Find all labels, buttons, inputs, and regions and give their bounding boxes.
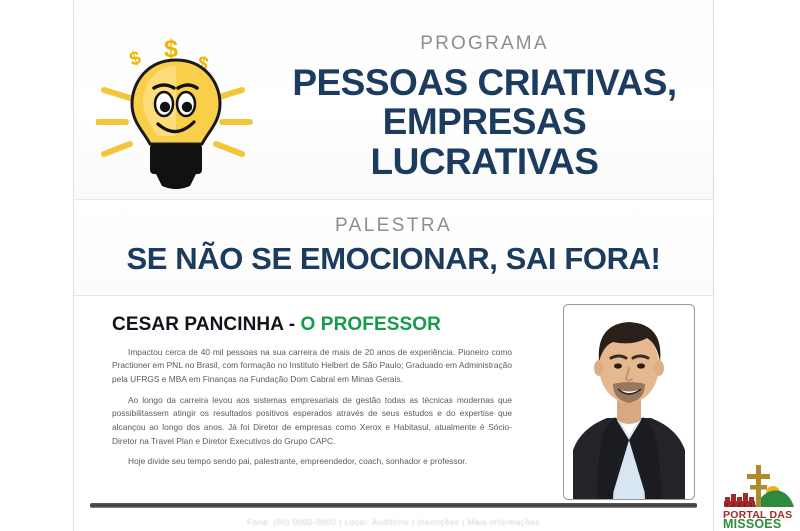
speaker-bio-paragraph-2: Ao longo da carreira levou aos sistemas … — [112, 394, 512, 448]
program-title: PESSOAS CRIATIVAS, EMPRESAS LUCRATIVAS — [264, 63, 705, 182]
speaker-name: CESAR PANCINHA — [112, 314, 283, 335]
page-gutter-left — [0, 0, 73, 531]
lecture-title: SE NÃO SE EMOCIONAR, SAI FORA! — [74, 242, 713, 276]
speaker-name-heading: CESAR PANCINHA - O PROFESSOR — [112, 314, 512, 336]
portal-das-missoes-watermark: PORTAL DAS MISSÕES — [720, 457, 798, 529]
program-kicker: PROGRAMA — [264, 34, 705, 55]
lecture-header: PALESTRA SE NÃO SE EMOCIONAR, SAI FORA! — [74, 200, 713, 296]
money-lightbulb-icon: $ $ $ — [96, 32, 256, 192]
speaker-bio-paragraph-3: Hoje divide seu tempo sendo pai, palestr… — [112, 455, 512, 469]
event-flyer: $ $ $ — [73, 0, 714, 531]
speaker-role: O PROFESSOR — [301, 314, 441, 335]
footer-strip: Fone: (00) 0000-0000 | Local: Auditório … — [74, 512, 713, 531]
speaker-portrait — [563, 304, 695, 500]
speaker-section: CESAR PANCINHA - O PROFESSOR Impactou ce… — [74, 296, 713, 505]
program-header: $ $ $ — [74, 0, 713, 200]
svg-text:$: $ — [127, 47, 144, 70]
lecture-kicker: PALESTRA — [74, 216, 713, 237]
program-title-line2: EMPRESAS LUCRATIVAS — [264, 102, 705, 181]
watermark-line2: MISSÕES — [723, 516, 781, 529]
page-gutter-right — [714, 0, 800, 531]
footer-divider — [90, 503, 697, 508]
footer-contact-text: Fone: (00) 0000-0000 | Local: Auditório … — [74, 512, 713, 528]
program-title-line1: PESSOAS CRIATIVAS, — [264, 63, 705, 103]
speaker-copy: CESAR PANCINHA - O PROFESSOR Impactou ce… — [112, 314, 512, 476]
program-header-text: PROGRAMA PESSOAS CRIATIVAS, EMPRESAS LUC… — [264, 34, 705, 182]
speaker-bio-paragraph-1: Impactou cerca de 40 mil pessoas na sua … — [112, 346, 512, 387]
speaker-name-separator: - — [283, 314, 300, 335]
